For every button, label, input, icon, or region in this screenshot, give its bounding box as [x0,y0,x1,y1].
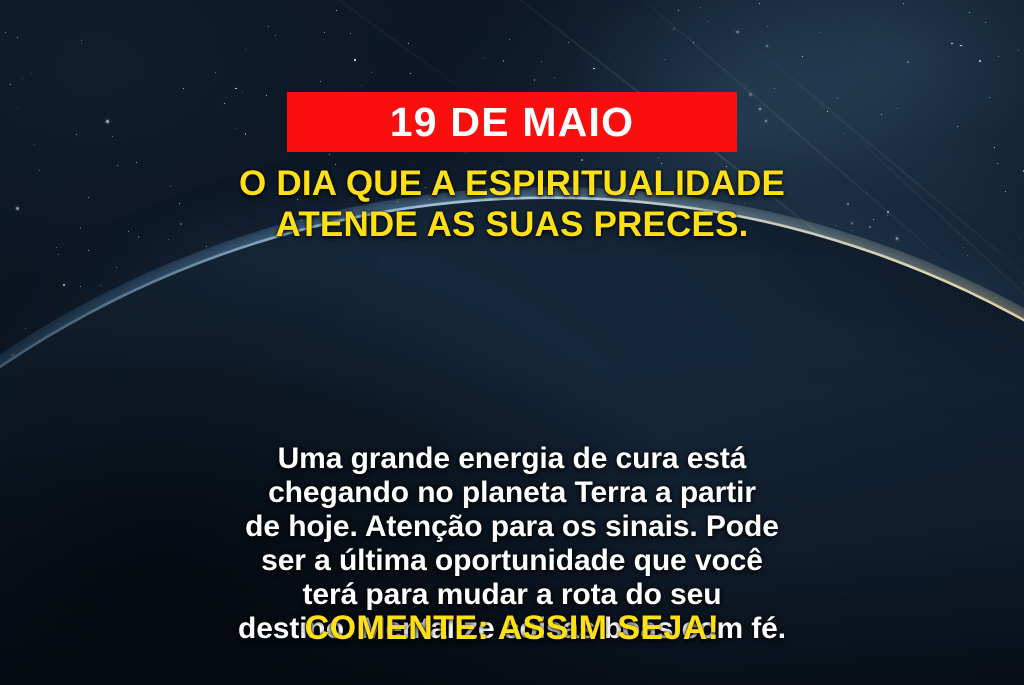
call-to-action: COMENTE: ASSIM SEJA! [0,611,1024,645]
headline-line-1: O DIA QUE A ESPIRITUALIDADE [0,164,1024,205]
headline: O DIA QUE A ESPIRITUALIDADE ATENDE AS SU… [0,164,1024,246]
body-line-1: Uma grande energia de cura está [0,442,1024,476]
body-line-2: chegando no planeta Terra a partir [0,476,1024,510]
poster-content: 19 DE MAIO O DIA QUE A ESPIRITUALIDADE A… [0,0,1024,685]
body-line-4: ser a última oportunidade que você [0,544,1024,578]
body-line-3: de hoje. Atenção para os sinais. Pode [0,510,1024,544]
date-banner: 19 DE MAIO [287,92,737,152]
date-banner-label: 19 DE MAIO [390,102,634,143]
body-line-5: terá para mudar a rota do seu [0,578,1024,612]
headline-line-2: ATENDE AS SUAS PRECES. [0,205,1024,246]
poster-canvas: 19 DE MAIO O DIA QUE A ESPIRITUALIDADE A… [0,0,1024,685]
